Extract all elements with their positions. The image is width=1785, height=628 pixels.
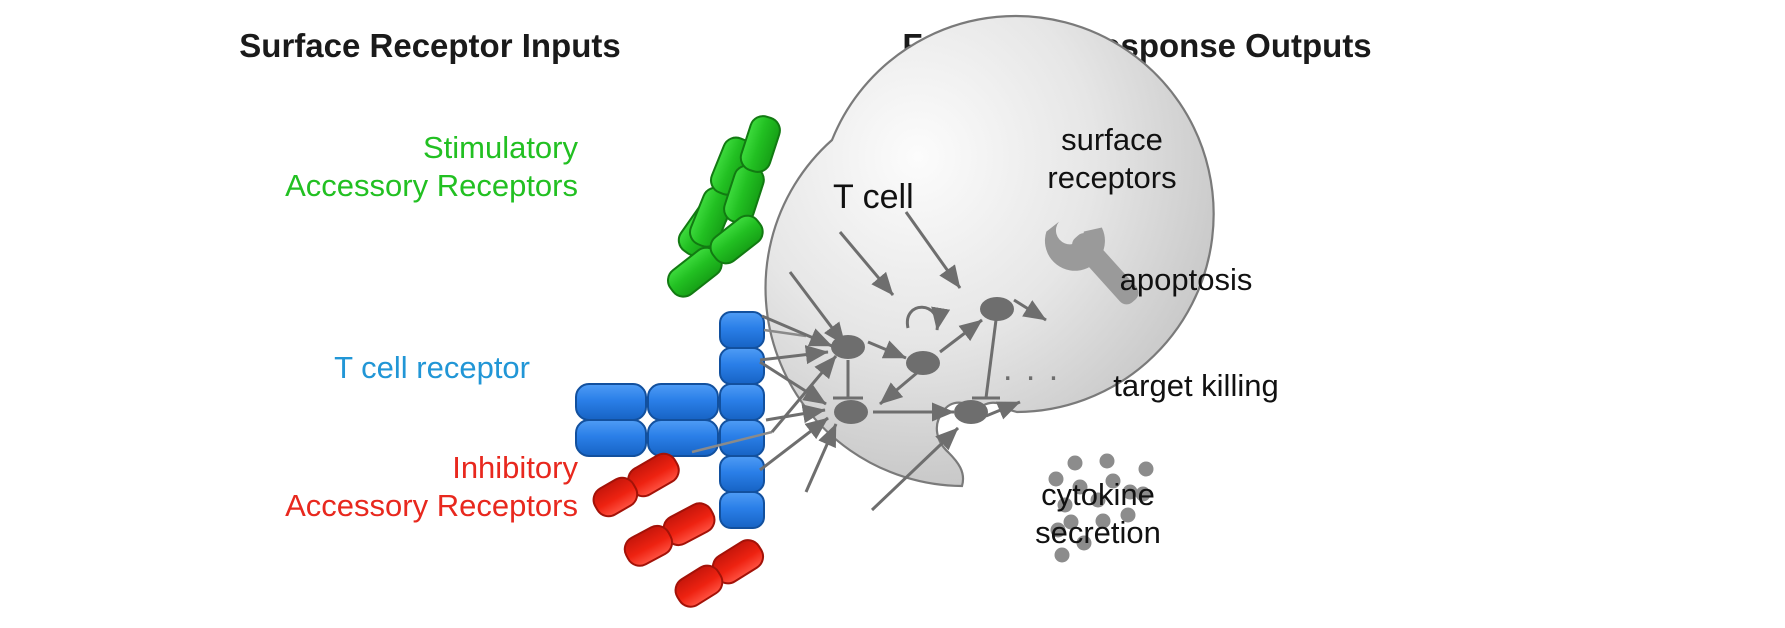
output-label-cytokine-secretion: cytokine secretion [1035, 477, 1161, 550]
t-cell-signaling-figure: Surface Receptor Inputs Functional Respo… [0, 0, 1785, 628]
tcr-block-down-2 [720, 492, 764, 528]
cytokine-secretion-line2: secretion [1035, 515, 1161, 550]
inhibitory-label-line2: Accessory Receptors [285, 488, 578, 523]
tcr-label-line1: T cell receptor [334, 350, 530, 385]
edge-input-j [806, 424, 836, 492]
tcr-block-up-2 [720, 348, 764, 384]
inhibitory-receptor-3 [671, 535, 768, 611]
output-label-apoptosis: apoptosis [1120, 262, 1253, 297]
network-node-5 [954, 400, 988, 424]
stimulatory-label-line1: Stimulatory [423, 130, 579, 165]
cell-label: T cell [833, 178, 914, 216]
network-node-2 [906, 351, 940, 375]
network-node-1 [831, 335, 865, 359]
tcr-arm-left-2 [648, 420, 718, 456]
output-label-target-killing: target killing [1113, 368, 1278, 403]
input-label-stimulatory: Stimulatory Accessory Receptors [285, 130, 578, 203]
tcr-arm-left-1 [648, 384, 718, 420]
cytokine-secretion-line1: cytokine [1041, 477, 1155, 512]
tcr-block-mid-2 [720, 420, 764, 456]
diagram-canvas: Surface Receptor Inputs Functional Respo… [0, 0, 1785, 628]
tcr-block-mid-1 [720, 384, 764, 420]
surface-receptors-line1: surface [1061, 122, 1163, 157]
tcr-arm-outer-2 [576, 420, 646, 456]
tcr-arm-outer-1 [576, 384, 646, 420]
input-label-tcr: T cell receptor [334, 350, 530, 385]
inhibitory-receptor-1 [589, 449, 684, 521]
network-node-3 [980, 297, 1014, 321]
stimulatory-label-line2: Accessory Receptors [285, 168, 578, 203]
input-label-inhibitory: Inhibitory Accessory Receptors [285, 450, 578, 523]
header-surface-receptor-inputs: Surface Receptor Inputs [239, 27, 620, 64]
network-ellipsis: . . . [1003, 350, 1060, 388]
tcr-block-up-1 [720, 312, 764, 348]
tcr-block-down-1 [720, 456, 764, 492]
inhibitory-receptor-2 [620, 499, 719, 571]
inhibitory-label-line1: Inhibitory [452, 450, 578, 485]
surface-receptors-line2: receptors [1047, 160, 1176, 195]
network-node-4 [834, 400, 868, 424]
